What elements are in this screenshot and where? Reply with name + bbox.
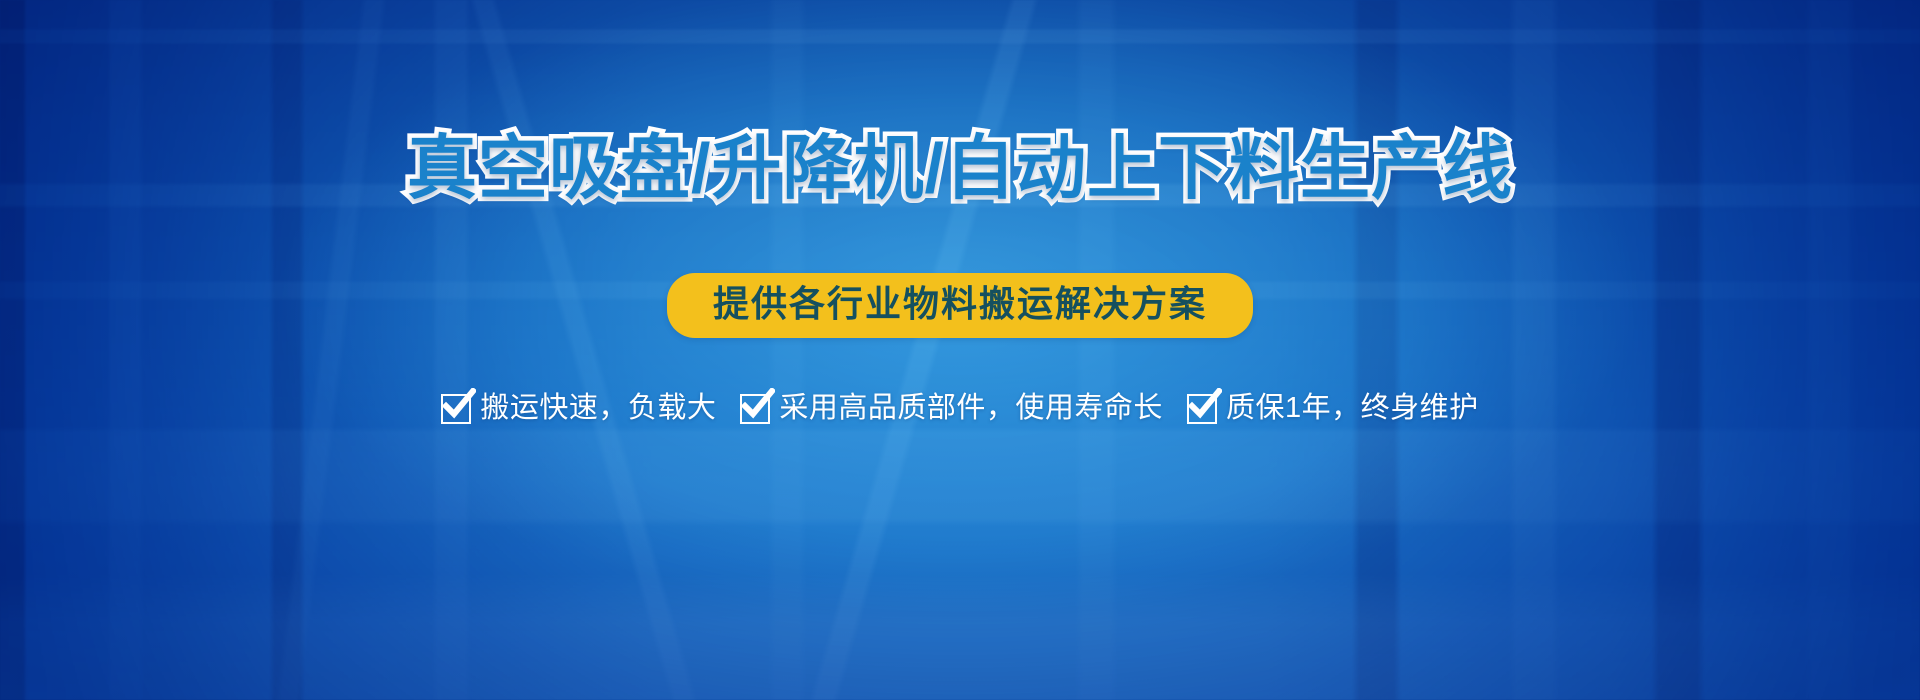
feature-item: 搬运快速，负载大 xyxy=(441,394,716,424)
feature-label: 质保1年，终身维护 xyxy=(1226,394,1479,423)
feature-label: 采用高品质部件，使用寿命长 xyxy=(779,394,1163,423)
banner-subtitle-pill: 提供各行业物料搬运解决方案 xyxy=(667,273,1253,338)
feature-item: 质保1年，终身维护 xyxy=(1187,394,1479,424)
banner-headline: 真空吸盘/升降机/自动上下料生产线 xyxy=(407,128,1513,208)
feature-label: 搬运快速，负载大 xyxy=(480,394,716,423)
checkbox-checked-icon xyxy=(1187,394,1217,424)
checkbox-checked-icon xyxy=(441,394,471,424)
checkbox-checked-icon xyxy=(740,394,770,424)
banner-content: 真空吸盘/升降机/自动上下料生产线 提供各行业物料搬运解决方案 搬运快速，负载大… xyxy=(0,0,1920,700)
feature-list: 搬运快速，负载大 采用高品质部件，使用寿命长 质保1年，终身维护 xyxy=(441,394,1478,424)
feature-item: 采用高品质部件，使用寿命长 xyxy=(740,394,1163,424)
hero-banner: 真空吸盘/升降机/自动上下料生产线 提供各行业物料搬运解决方案 搬运快速，负载大… xyxy=(0,0,1920,700)
